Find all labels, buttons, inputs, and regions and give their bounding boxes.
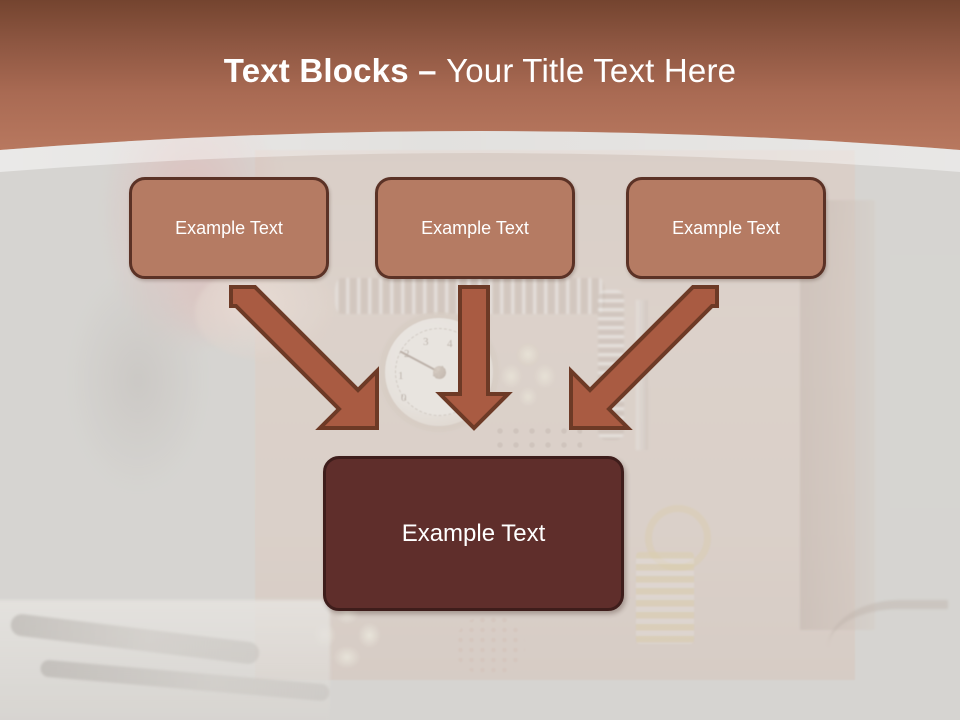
photo-gauge-number: 0: [401, 392, 407, 404]
photo-coil-band: [335, 278, 605, 314]
photo-gauge-number: 4: [447, 338, 453, 350]
page-title: Text Blocks – Your Title Text Here: [0, 50, 960, 92]
photo-spring: [598, 290, 624, 440]
photo-pressure-gauge: 0 1 2 3 4: [385, 318, 493, 426]
presentation-slide: 0 1 2 3 4: [0, 0, 960, 720]
photo-hand: [195, 265, 335, 360]
photo-gauge-number: 1: [398, 370, 404, 382]
title-dash: –: [418, 52, 446, 89]
text-block-result[interactable]: Example Text: [323, 456, 624, 611]
title-bold-part: Text Blocks: [224, 52, 418, 89]
text-block-3[interactable]: Example Text: [626, 177, 826, 279]
text-block-3-label: Example Text: [672, 218, 780, 239]
text-block-2-label: Example Text: [421, 218, 529, 239]
text-block-1-label: Example Text: [175, 218, 283, 239]
photo-mesh-grille: [455, 615, 525, 675]
text-block-1[interactable]: Example Text: [129, 177, 329, 279]
photo-brass-ornament: [500, 340, 556, 406]
photo-gauge-hub: [433, 366, 446, 379]
photo-rivet-dots: [492, 424, 582, 458]
photo-gauge-number: 3: [423, 336, 429, 348]
text-block-2[interactable]: Example Text: [375, 177, 575, 279]
photo-gear-rack: [636, 552, 694, 644]
title-light-part: Your Title Text Here: [446, 52, 736, 89]
text-block-result-label: Example Text: [402, 520, 546, 548]
photo-rod: [636, 300, 648, 450]
